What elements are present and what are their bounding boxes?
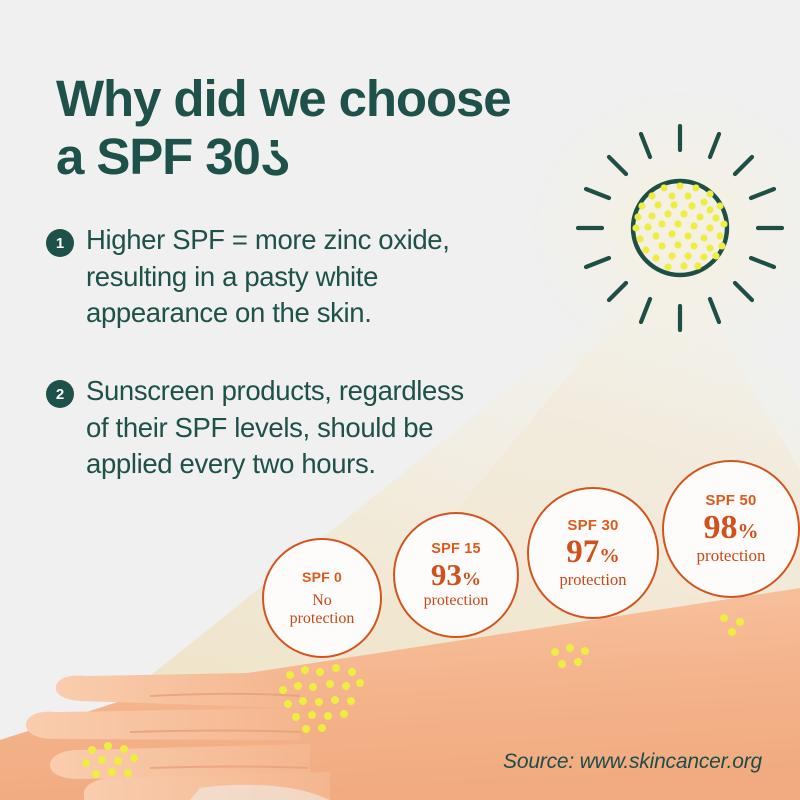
page-title: Why did we choose a SPF 30? bbox=[56, 70, 616, 186]
bullet-item-2: 2 Sunscreen products, regardless of thei… bbox=[46, 373, 666, 483]
spf-label-15: SPF 15 bbox=[431, 541, 481, 557]
spf-circle-15: SPF 15 93% protection bbox=[393, 512, 519, 638]
bullet-number-badge-2: 2 bbox=[46, 380, 74, 408]
spf-sub-30: protection bbox=[560, 571, 627, 589]
spf-label-50: SPF 50 bbox=[705, 492, 756, 509]
bullet-number-badge-1: 1 bbox=[46, 229, 74, 257]
spf-label-0: SPF 0 bbox=[302, 569, 342, 585]
source-attribution: Source: www.skincancer.org bbox=[503, 750, 762, 774]
spf-sub-0: No protection bbox=[290, 592, 355, 627]
spf-value-15: 93% bbox=[431, 559, 481, 590]
spf-sub-50: protection bbox=[697, 547, 766, 566]
spf-circle-30: SPF 30 97% protection bbox=[527, 487, 659, 619]
spf-value-30: 97% bbox=[566, 536, 619, 569]
bullet-text-1: Higher SPF = more zinc oxide, resulting … bbox=[86, 222, 450, 332]
spf-value-50: 98% bbox=[703, 511, 758, 545]
question-mark-glyph: ? bbox=[260, 128, 290, 186]
headline-line-2: a SPF 30? bbox=[56, 128, 290, 185]
spf-label-30: SPF 30 bbox=[567, 517, 618, 534]
spf-circle-50: SPF 50 98% protection bbox=[662, 460, 800, 598]
spf-sub-15: protection bbox=[424, 592, 489, 610]
infographic-poster: Why did we choose a SPF 30? 1 Higher SPF… bbox=[0, 0, 800, 800]
headline-line-1: Why did we choose bbox=[56, 70, 511, 127]
spf-circle-0: SPF 0 No protection bbox=[262, 538, 382, 658]
bullet-item-1: 1 Higher SPF = more zinc oxide, resultin… bbox=[46, 222, 666, 332]
bullet-text-2: Sunscreen products, regardless of their … bbox=[86, 373, 464, 483]
